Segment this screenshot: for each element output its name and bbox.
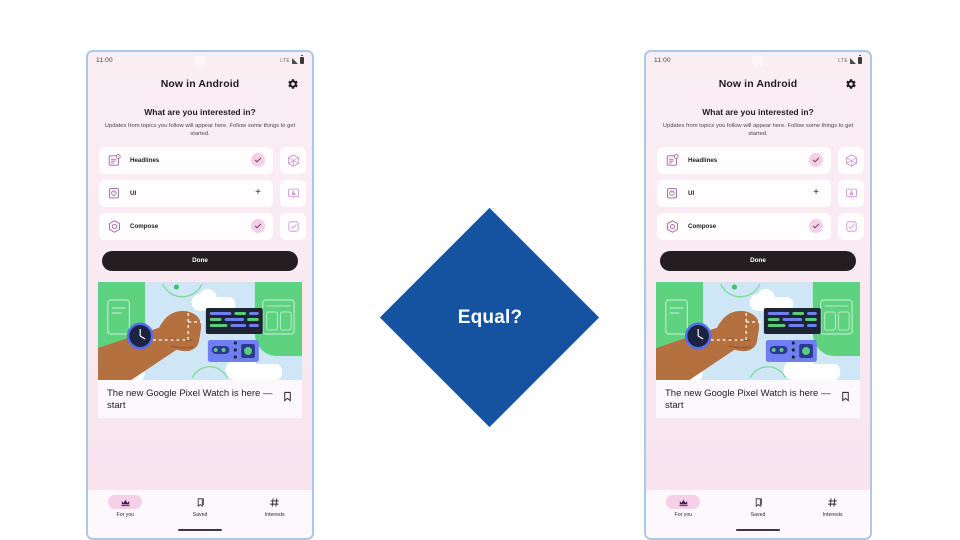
nav-pill-active xyxy=(666,495,700,509)
compose-icon xyxy=(665,219,680,234)
topic-card-partial-cube[interactable] xyxy=(838,147,864,174)
gear-icon[interactable] xyxy=(287,78,299,90)
check-icon xyxy=(254,222,262,230)
camera-notch xyxy=(752,55,764,67)
signal-icon xyxy=(292,58,298,64)
feed-section: The new Google Pixel Watch is here — sta… xyxy=(88,282,312,538)
bottom-navigation: For you Saved xyxy=(88,490,312,538)
nav-pill xyxy=(816,495,850,509)
nav-item-saved[interactable]: Saved xyxy=(721,495,796,518)
check-icon xyxy=(254,156,262,164)
plus-icon: + xyxy=(255,188,261,198)
bottom-navigation: For you Saved xyxy=(646,490,870,538)
topic-card-partial-checkbox[interactable] xyxy=(838,213,864,240)
signal-icon xyxy=(850,58,856,64)
nav-label: For you xyxy=(675,512,693,518)
app-top-bar: Now in Android xyxy=(88,69,312,99)
bookmark-icon[interactable] xyxy=(282,390,293,403)
nav-pill xyxy=(183,495,217,509)
article-title: The new Google Pixel Watch is here — sta… xyxy=(665,388,832,412)
nav-label: Saved xyxy=(193,512,208,518)
topic-row: Headlines xyxy=(657,147,870,174)
cube-icon xyxy=(844,153,859,168)
nav-label: Saved xyxy=(751,512,766,518)
pixel-watch-illustration xyxy=(98,282,302,380)
topic-toggle-check[interactable] xyxy=(809,153,823,167)
topic-label: Headlines xyxy=(688,157,809,164)
topic-label: Headlines xyxy=(130,157,251,164)
nav-item-interests[interactable]: Interests xyxy=(795,495,870,518)
article-card[interactable]: The new Google Pixel Watch is here — sta… xyxy=(656,380,860,418)
for-you-icon xyxy=(120,497,131,508)
status-time: 11:00 xyxy=(654,57,671,64)
network-label: LTE xyxy=(280,58,290,64)
topic-card-partial-cube[interactable] xyxy=(280,147,306,174)
saved-icon xyxy=(753,497,764,508)
topic-row: UI + xyxy=(99,180,312,207)
battery-icon xyxy=(858,57,862,65)
nav-pill xyxy=(741,495,775,509)
topic-row: UI + xyxy=(657,180,870,207)
done-button-wrap: Done xyxy=(88,240,312,282)
nav-pill xyxy=(258,495,292,509)
phone-screenshot-left: 11:00 LTE Now in Android What are you in… xyxy=(86,50,314,540)
topic-label: UI xyxy=(130,190,251,197)
done-button-wrap: Done xyxy=(646,240,870,282)
check-icon xyxy=(812,222,820,230)
nav-pill-active xyxy=(108,495,142,509)
page-title: Now in Android xyxy=(161,78,240,90)
article-title: The new Google Pixel Watch is here — sta… xyxy=(107,388,274,412)
nav-item-for-you[interactable]: For you xyxy=(88,495,163,518)
topic-toggle-check[interactable] xyxy=(809,219,823,233)
article-card[interactable]: The new Google Pixel Watch is here — sta… xyxy=(98,380,302,418)
topic-label: Compose xyxy=(688,223,809,230)
interests-icon xyxy=(269,497,280,508)
topic-grid: Headlines xyxy=(88,145,312,240)
nav-label: Interests xyxy=(823,512,843,518)
interests-icon xyxy=(827,497,838,508)
interest-header: What are you interested in? Updates from… xyxy=(88,99,312,145)
done-button-label: Done xyxy=(750,257,766,264)
status-bar: 11:00 LTE xyxy=(88,52,312,69)
saved-icon xyxy=(195,497,206,508)
article-hero-image xyxy=(656,282,860,380)
topic-toggle-plus[interactable]: + xyxy=(809,186,823,200)
feed-section: The new Google Pixel Watch is here — sta… xyxy=(646,282,870,538)
phone-screen: 11:00 LTE Now in Android What are you in… xyxy=(88,52,312,538)
topic-card-ui[interactable]: UI + xyxy=(99,180,273,207)
topic-grid: Headlines xyxy=(646,145,870,240)
interest-title: What are you interested in? xyxy=(662,107,854,117)
compose-icon xyxy=(107,219,122,234)
for-you-icon xyxy=(678,497,689,508)
article-hero-image xyxy=(98,282,302,380)
bookmark-icon[interactable] xyxy=(840,390,851,403)
topic-toggle-plus[interactable]: + xyxy=(251,186,265,200)
topic-card-ui[interactable]: UI + xyxy=(657,180,831,207)
nav-item-for-you[interactable]: For you xyxy=(646,495,721,518)
checkbox-icon xyxy=(844,219,859,234)
equal-comparison-marker: Equal? xyxy=(380,208,600,428)
presentation-icon xyxy=(286,186,301,201)
topic-card-partial-checkbox[interactable] xyxy=(280,213,306,240)
camera-notch xyxy=(194,55,206,67)
done-button[interactable]: Done xyxy=(660,251,856,271)
status-icons: LTE xyxy=(280,57,304,65)
topic-card-partial-presentation[interactable] xyxy=(280,180,306,207)
plus-icon: + xyxy=(813,188,819,198)
pixel-watch-illustration xyxy=(656,282,860,380)
nav-label: For you xyxy=(117,512,135,518)
topic-card-headlines[interactable]: Headlines xyxy=(99,147,273,174)
presentation-icon xyxy=(844,186,859,201)
ui-icon xyxy=(107,186,122,201)
check-icon xyxy=(812,156,820,164)
topic-row: Compose xyxy=(657,213,870,240)
nav-label: Interests xyxy=(265,512,285,518)
done-button-label: Done xyxy=(192,257,208,264)
status-time: 11:00 xyxy=(96,57,113,64)
comparison-stage: 11:00 LTE Now in Android What are you in… xyxy=(0,0,960,540)
topic-label: UI xyxy=(688,190,809,197)
interest-subtitle: Updates from topics you follow will appe… xyxy=(104,122,296,139)
gear-icon[interactable] xyxy=(845,78,857,90)
topic-row: Headlines xyxy=(99,147,312,174)
phone-screenshot-right: 11:00 LTE Now in Android What are you in… xyxy=(644,50,872,540)
page-title: Now in Android xyxy=(719,78,798,90)
topic-label: Compose xyxy=(130,223,251,230)
app-top-bar: Now in Android xyxy=(646,69,870,99)
cube-icon xyxy=(286,153,301,168)
home-indicator[interactable] xyxy=(178,529,222,531)
nav-item-interests[interactable]: Interests xyxy=(237,495,312,518)
topic-card-headlines[interactable]: Headlines xyxy=(657,147,831,174)
battery-icon xyxy=(300,57,304,65)
topic-card-compose[interactable]: Compose xyxy=(657,213,831,240)
phone-screen: 11:00 LTE Now in Android What are you in… xyxy=(646,52,870,538)
interest-header: What are you interested in? Updates from… xyxy=(646,99,870,145)
topic-row: Compose xyxy=(99,213,312,240)
topic-card-compose[interactable]: Compose xyxy=(99,213,273,240)
done-button[interactable]: Done xyxy=(102,251,298,271)
headlines-icon xyxy=(665,153,680,168)
headlines-icon xyxy=(107,153,122,168)
home-indicator[interactable] xyxy=(736,529,780,531)
topic-toggle-check[interactable] xyxy=(251,219,265,233)
status-icons: LTE xyxy=(838,57,862,65)
nav-item-saved[interactable]: Saved xyxy=(163,495,238,518)
interest-subtitle: Updates from topics you follow will appe… xyxy=(662,122,854,139)
interest-title: What are you interested in? xyxy=(104,107,296,117)
ui-icon xyxy=(665,186,680,201)
status-bar: 11:00 LTE xyxy=(646,52,870,69)
topic-card-partial-presentation[interactable] xyxy=(838,180,864,207)
network-label: LTE xyxy=(838,58,848,64)
checkbox-icon xyxy=(286,219,301,234)
topic-toggle-check[interactable] xyxy=(251,153,265,167)
diamond-label: Equal? xyxy=(380,208,600,428)
